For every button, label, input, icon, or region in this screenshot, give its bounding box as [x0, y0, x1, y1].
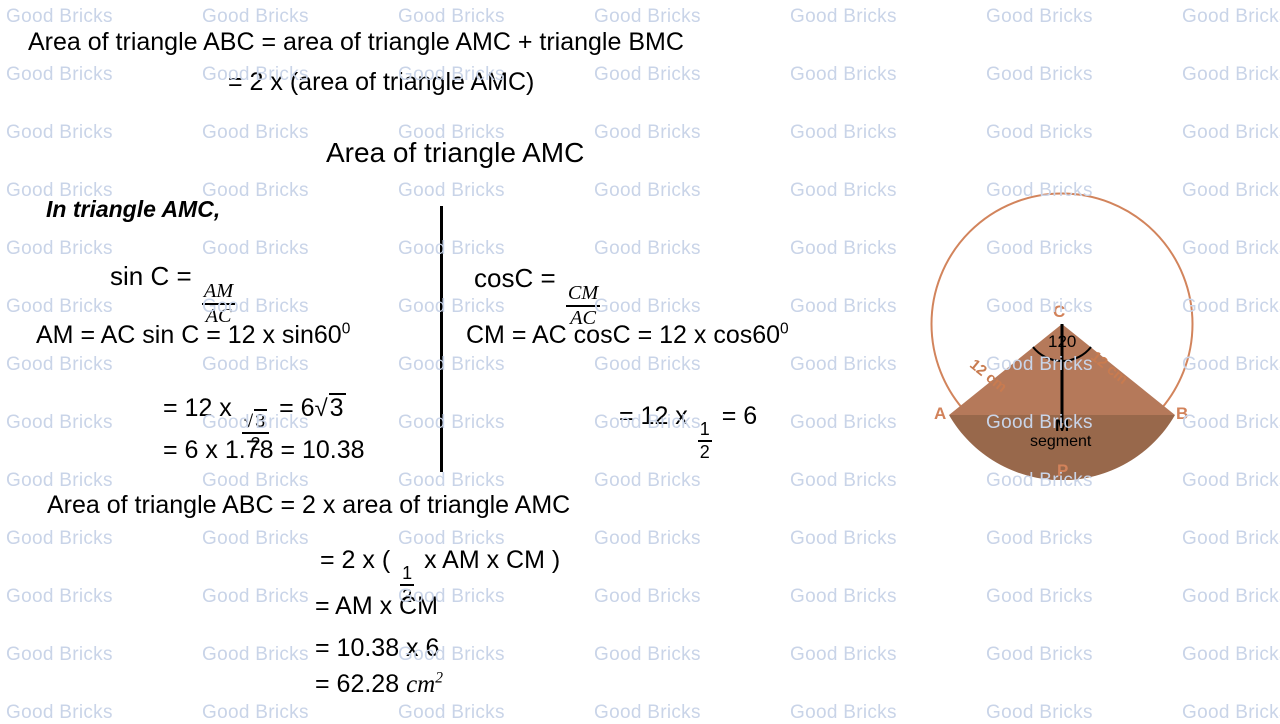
radicand: 3	[329, 393, 346, 421]
unit-exponent: 2	[435, 670, 443, 687]
conclusion-line-4: = 10.38 x 6	[315, 636, 439, 661]
circle-diagram: C A B P M segment 120 12 cm 12 cm	[920, 180, 1210, 480]
in-triangle-note: In triangle AMC,	[46, 198, 220, 221]
fraction-denominator: 2	[698, 443, 712, 462]
cm-step-2-suffix: = 6	[722, 402, 757, 430]
cm-step-1: CM = AC cosC = 12 x cos600	[466, 323, 789, 348]
intro-line-2: = 2 x (area of triangle AMC)	[228, 70, 534, 95]
label-point-a: A	[934, 404, 946, 424]
cm-step-2: = 12 x 1 2 = 6	[619, 404, 757, 462]
conclusion-line-5: = 62.28 cm2	[315, 672, 443, 697]
fraction-numerator: √3	[242, 409, 269, 431]
am-step-1-text: AM = AC sin C = 12 x sin60	[36, 321, 342, 349]
degree-symbol: 0	[342, 321, 351, 338]
column-divider	[440, 206, 443, 472]
conclusion-line-2-prefix: = 2 x (	[320, 546, 390, 574]
am-step-1: AM = AC sin C = 12 x sin600	[36, 323, 350, 348]
sin-c-label: sin C =	[110, 261, 192, 291]
intro-line-1: Area of triangle ABC = area of triangle …	[28, 30, 684, 55]
cos-c-ratio: cosC = CM AC	[474, 265, 603, 329]
fraction-numerator: CM	[566, 283, 600, 304]
am-step-2-prefix: = 12 x	[163, 394, 232, 422]
cos-c-label: cosC =	[474, 263, 556, 293]
am-step-3: = 6 x 1.78 = 10.38	[163, 438, 365, 463]
sin-c-ratio: sin C = AM AC	[110, 263, 238, 327]
label-segment: segment	[1030, 433, 1091, 451]
section-heading: Area of triangle AMC	[326, 139, 584, 167]
conclusion-result-value: = 62.28	[315, 670, 399, 698]
am-step-2-suffix: = 6	[279, 394, 314, 422]
one-half-fraction: 1 2	[698, 420, 712, 462]
cm-step-2-prefix: = 12 x	[619, 402, 688, 430]
conclusion-line-3: = AM x CM	[315, 594, 438, 619]
cm-step-1-text: CM = AC cosC = 12 x cos60	[466, 321, 780, 349]
label-point-p: P	[1057, 461, 1068, 481]
label-angle-120: 120	[1048, 332, 1076, 352]
radical-icon: √	[315, 395, 328, 422]
degree-symbol: 0	[780, 321, 789, 338]
fraction-numerator: 1	[698, 420, 712, 439]
radicand: 3	[254, 409, 267, 431]
label-point-b: B	[1176, 404, 1188, 424]
conclusion-result-unit: cm	[406, 671, 435, 698]
conclusion-line-1: Area of triangle ABC = 2 x area of trian…	[47, 493, 570, 518]
radical-icon: √	[244, 412, 253, 431]
fraction-numerator: AM	[202, 281, 235, 302]
label-point-c: C	[1053, 302, 1065, 322]
fraction-numerator: 1	[400, 564, 414, 583]
conclusion-line-2-suffix: x AM x CM )	[424, 546, 560, 574]
